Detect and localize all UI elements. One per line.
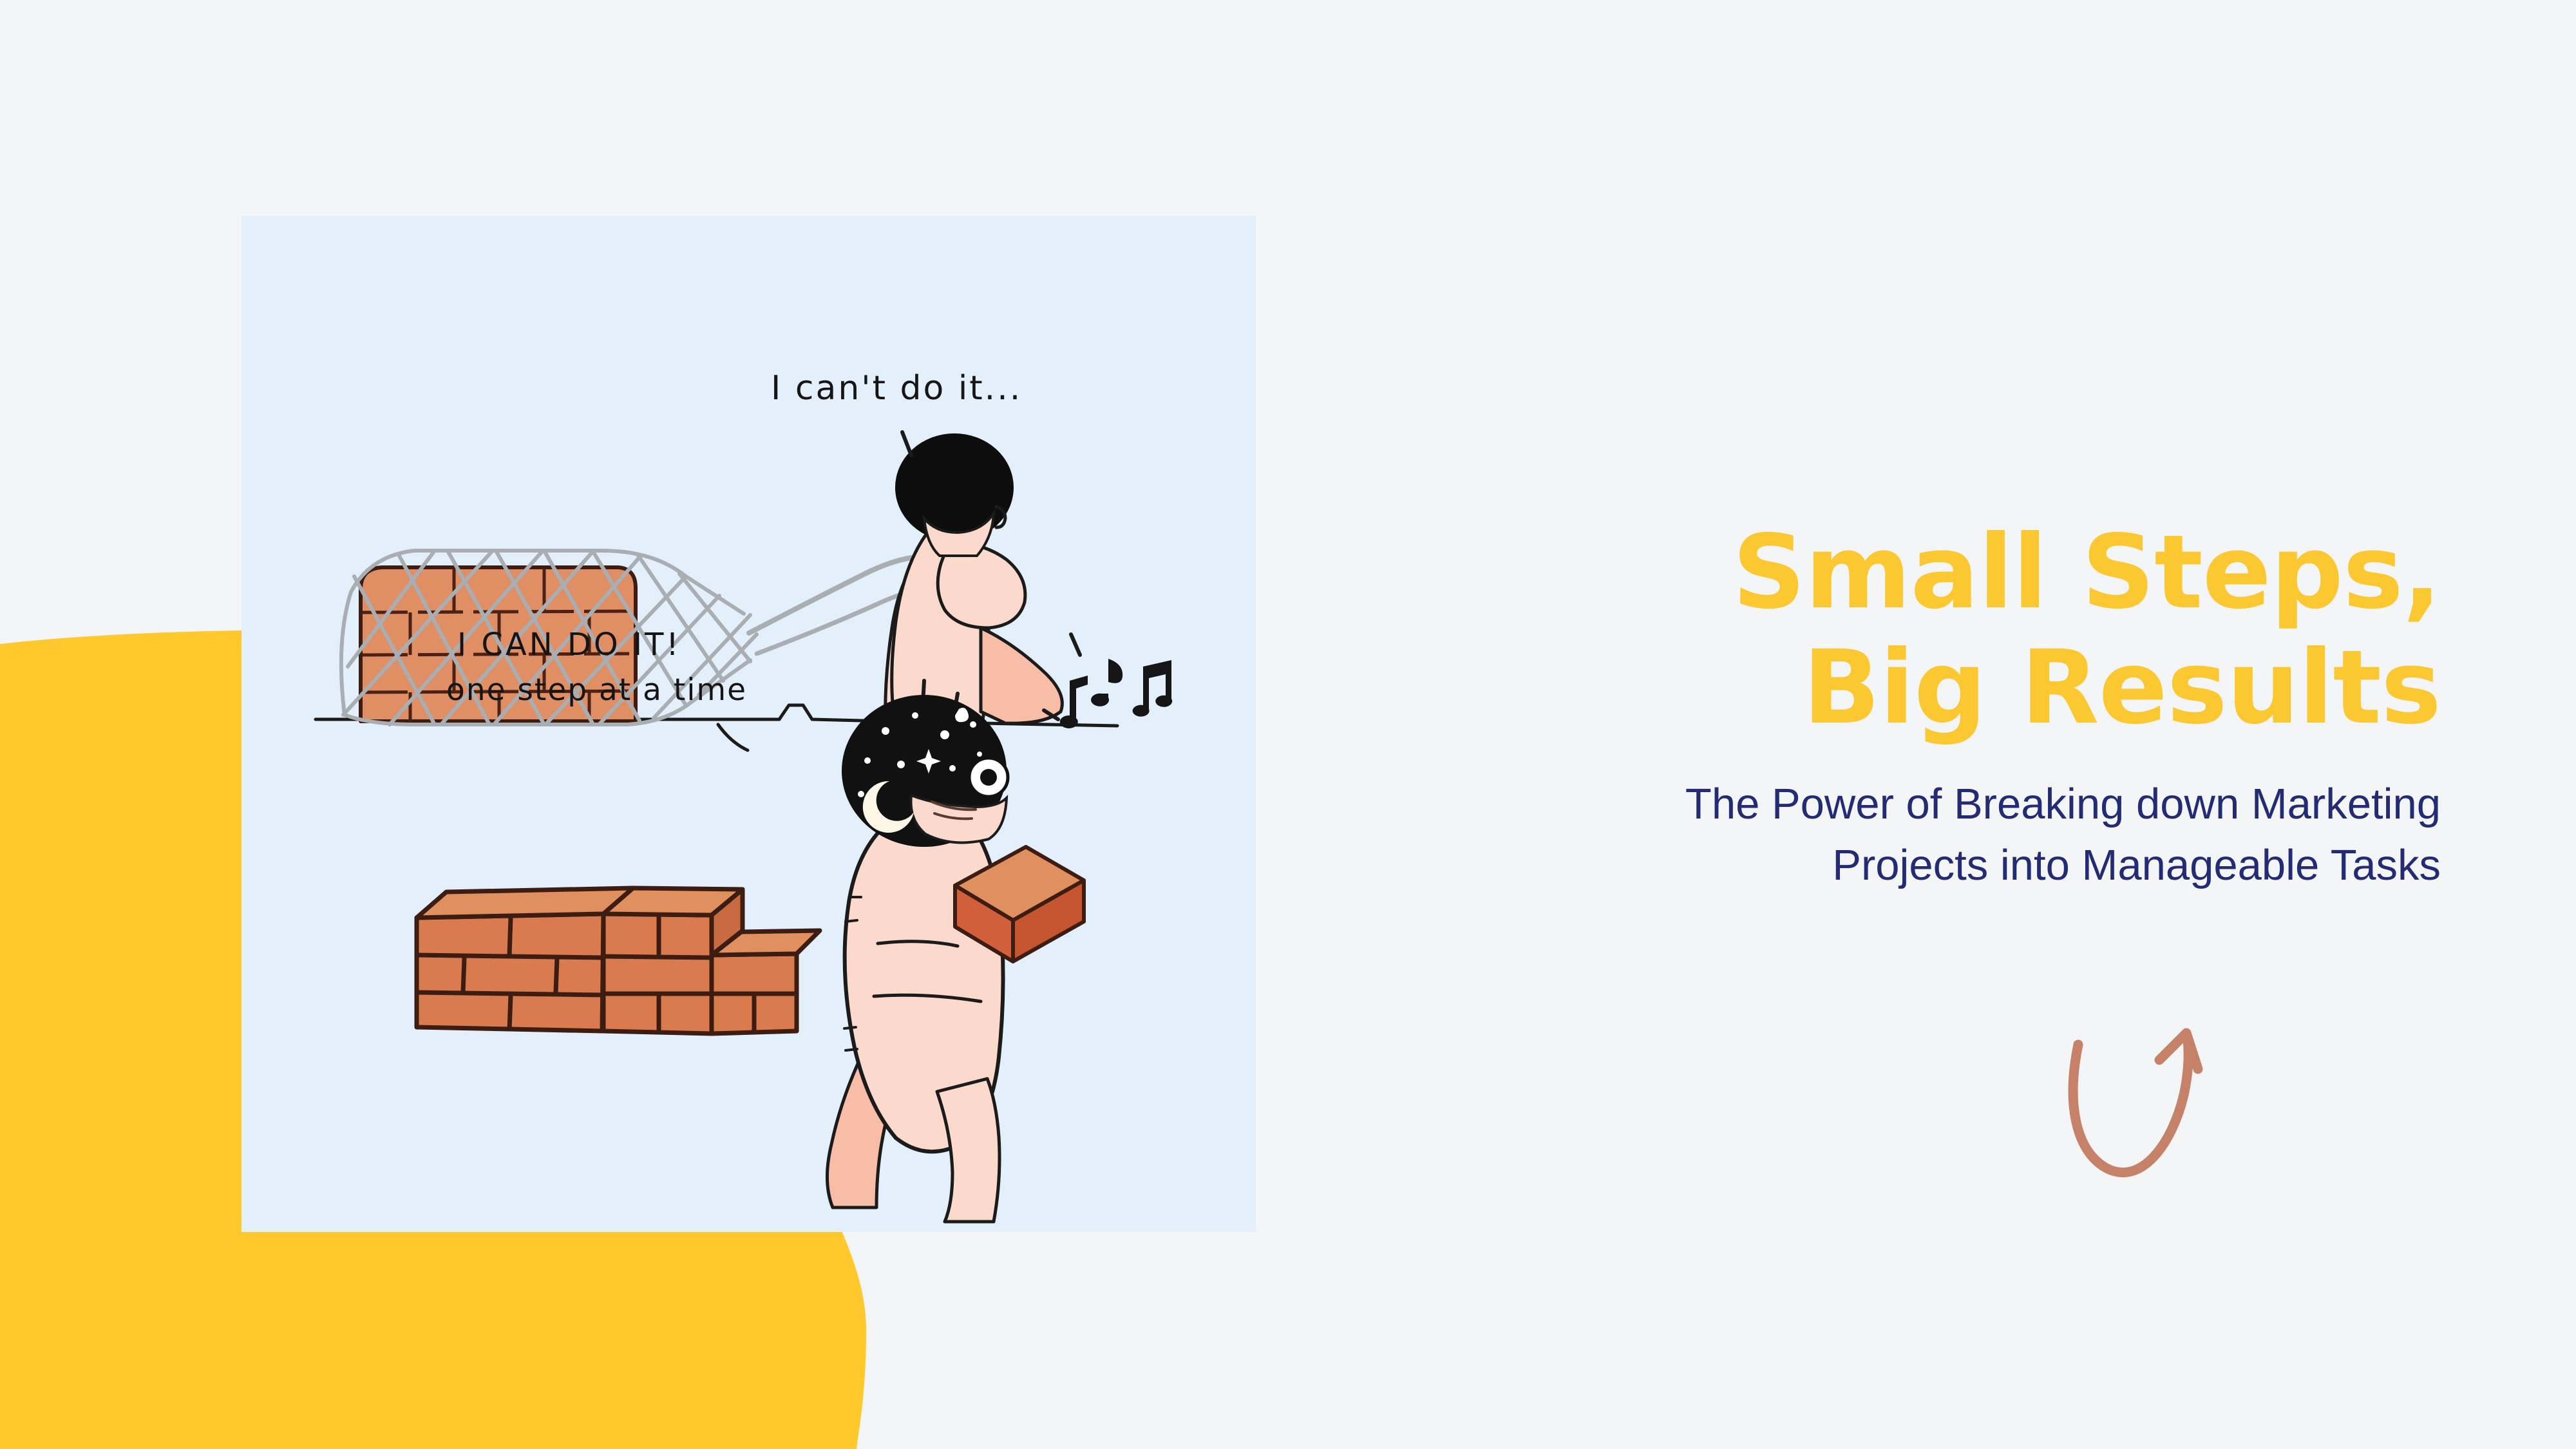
curved-arrow-layer [2051, 1018, 2283, 1198]
caption-one-step: one step at a time [446, 672, 747, 708]
slide-canvas: I can't do it... I CAN DO IT! one step a… [0, 0, 2576, 1449]
page-title: Small Steps, Big Results [1385, 515, 2441, 745]
illustration-panel: I can't do it... I CAN DO IT! one step a… [241, 216, 1256, 1232]
page-subtitle: The Power of Breaking down Marketing Pro… [1385, 773, 2441, 896]
caption-cant-do-it: I can't do it... [771, 369, 1022, 408]
headline-block: Small Steps, Big Results The Power of Br… [1385, 515, 2441, 896]
illustration-graphic: I can't do it... I CAN DO IT! one step a… [241, 216, 1256, 1232]
caption-i-can-do-it: I CAN DO IT! [457, 627, 681, 663]
curved-arrow-icon [2051, 1018, 2283, 1198]
